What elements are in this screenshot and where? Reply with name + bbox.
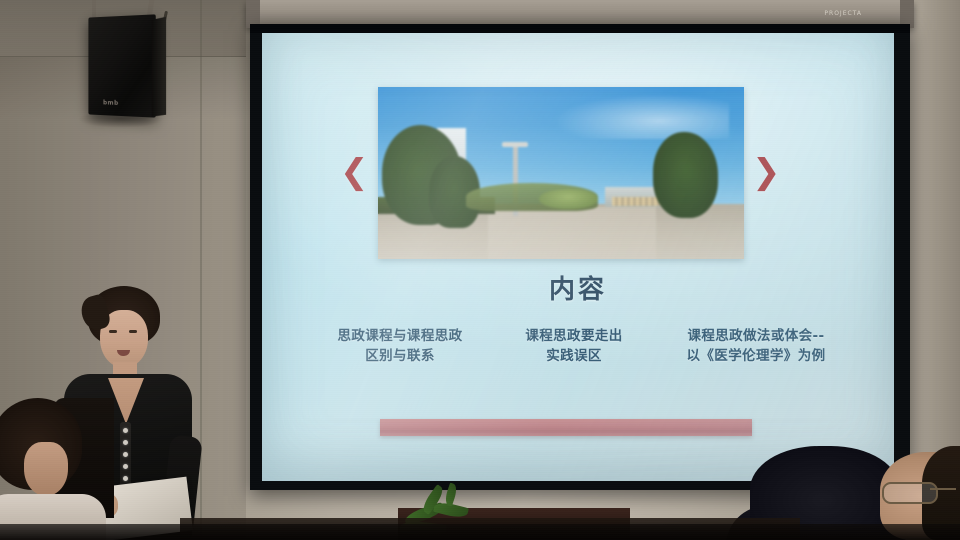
slide-photo bbox=[378, 87, 744, 259]
photo-blur-overlay bbox=[378, 87, 744, 259]
column-1-line-1: 思政课程与课程思政 bbox=[310, 327, 490, 347]
audience-member-left bbox=[0, 398, 98, 540]
speaker-brand-label: bmb bbox=[103, 99, 119, 106]
presenter-button bbox=[123, 452, 128, 457]
column-3-line-1: 课程思政做法或体会-- bbox=[658, 327, 854, 347]
slide-title: 内容 bbox=[262, 269, 894, 306]
presenter-eye-right bbox=[129, 330, 137, 333]
chevron-left-icon: ❮ bbox=[340, 155, 369, 189]
speaker-side-face bbox=[152, 17, 166, 117]
column-3-line-2: 以《医学伦理学》为例 bbox=[658, 347, 854, 367]
presentation-slide: ❮ ❯ 内容 思政课程与课程思政 区别与联系 课程思政要走出 实践误区 课程思政… bbox=[262, 33, 894, 481]
eyeglasses-icon bbox=[882, 482, 938, 504]
foreground-shadow bbox=[0, 524, 960, 540]
slide-accent-bar bbox=[380, 419, 752, 436]
slide-column-3: 课程思政做法或体会-- 以《医学伦理学》为例 bbox=[658, 327, 854, 366]
presenter-button bbox=[123, 428, 128, 433]
presenter-button bbox=[123, 464, 128, 469]
column-2-line-1: 课程思政要走出 bbox=[500, 327, 648, 347]
classroom-scene: bmb PROJECTA ❮ ❯ bbox=[0, 0, 960, 540]
presenter-eye-left bbox=[109, 330, 117, 333]
eyeglasses-temple-arm bbox=[930, 488, 956, 490]
screen-brand-label: PROJECTA bbox=[824, 10, 862, 17]
slide-column-2: 课程思政要走出 实践误区 bbox=[500, 327, 648, 366]
chevron-right-icon: ❯ bbox=[752, 155, 781, 189]
presenter-button bbox=[123, 440, 128, 445]
column-2-line-2: 实践误区 bbox=[500, 347, 648, 367]
slide-column-1: 思政课程与课程思政 区别与联系 bbox=[310, 327, 490, 366]
slide-columns: 思政课程与课程思政 区别与联系 课程思政要走出 实践误区 课程思政做法或体会--… bbox=[310, 327, 850, 366]
column-1-line-2: 区别与联系 bbox=[310, 347, 490, 367]
audience-left-face bbox=[24, 442, 68, 496]
presenter-button bbox=[123, 476, 128, 481]
wall-speaker-icon: bmb bbox=[88, 14, 155, 117]
